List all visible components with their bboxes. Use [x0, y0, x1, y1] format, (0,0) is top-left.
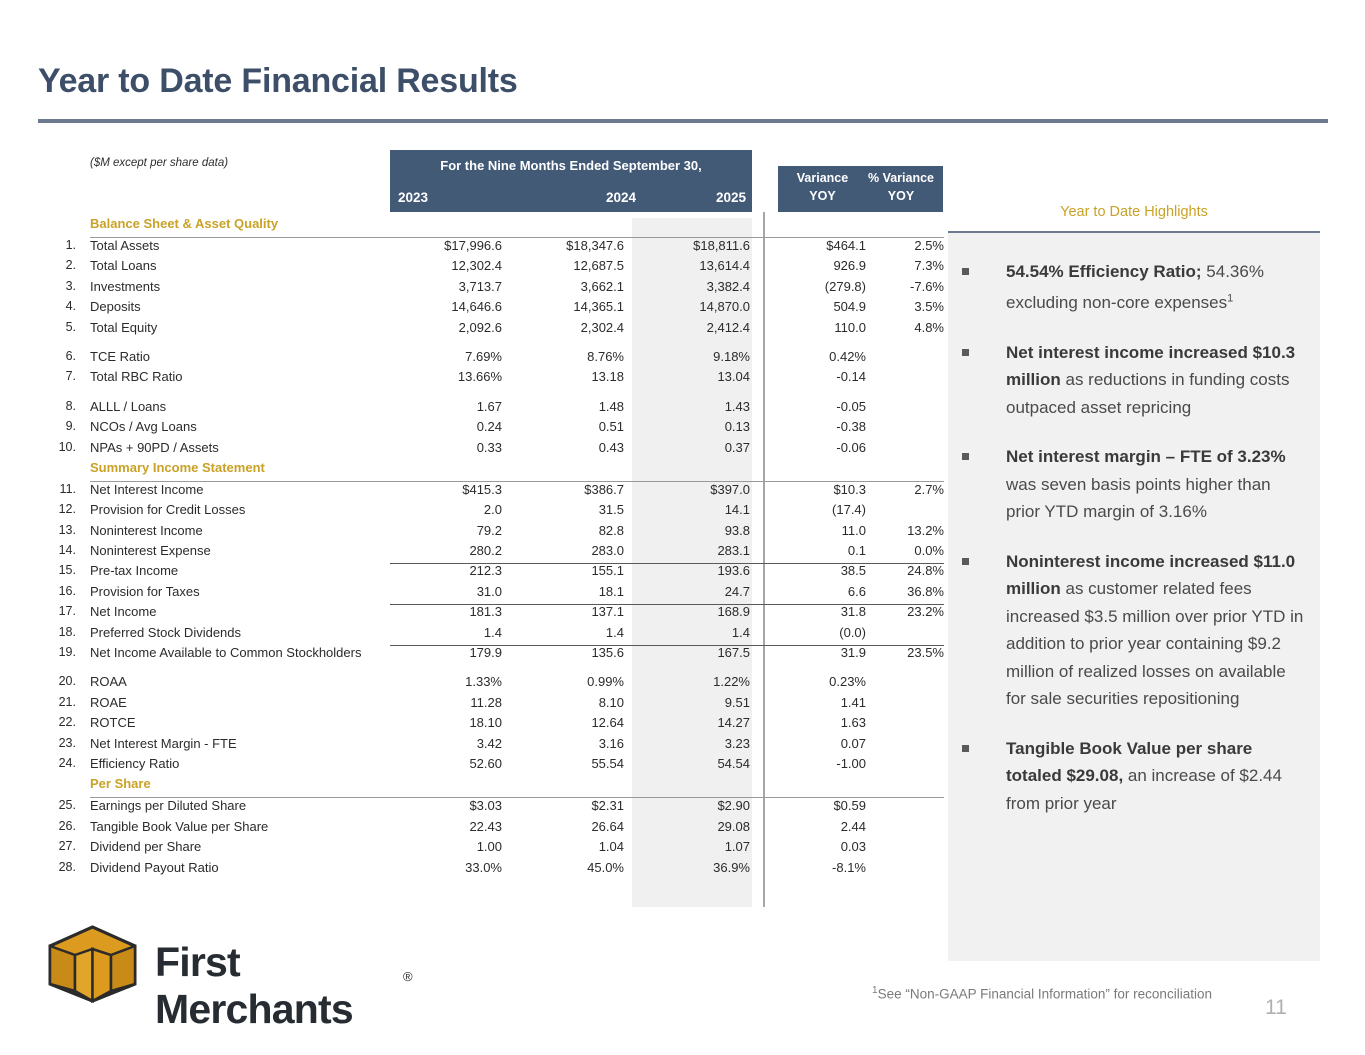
row-number: 5. [38, 320, 76, 334]
table-row: 4.Deposits14,646.614,365.114,870.0504.93… [38, 299, 948, 319]
highlights-list: 54.54% Efficiency Ratio; 54.36% excludin… [948, 258, 1320, 839]
cell-2024: 135.6 [512, 645, 624, 660]
cell-variance-yoy: 11.0 [774, 523, 866, 538]
highlight-bullet-item: Net interest income increased $10.3 mill… [948, 339, 1320, 422]
row-number: 2. [38, 258, 76, 272]
row-number: 8. [38, 399, 76, 413]
cell-2024: 13.18 [512, 369, 624, 384]
cell-2023: $415.3 [390, 482, 502, 497]
cell-variance-yoy: (279.8) [774, 279, 866, 294]
row-number: 18. [38, 625, 76, 639]
cell-2025: 1.07 [634, 839, 750, 854]
cell-2024: 283.0 [512, 543, 624, 558]
highlight-bullet-item: Tangible Book Value per share totaled $2… [948, 735, 1320, 818]
row-label: Net Interest Margin - FTE [90, 736, 237, 751]
cell-variance-yoy: -8.1% [774, 860, 866, 875]
cell-variance-yoy: -0.06 [774, 440, 866, 455]
cell-2023: 18.10 [390, 715, 502, 730]
cell-2023: 0.33 [390, 440, 502, 455]
cell-2025: $397.0 [634, 482, 750, 497]
row-spacer [38, 390, 948, 399]
cell-2025: 14.27 [634, 715, 750, 730]
table-row: 21.ROAE11.288.109.511.41 [38, 695, 948, 715]
financial-table: ($M except per share data) For the Nine … [38, 146, 948, 916]
footnote-text: See “Non-GAAP Financial Information” for… [878, 987, 1212, 1002]
cell-variance-yoy: 926.9 [774, 258, 866, 273]
cell-2024: 8.76% [512, 349, 624, 364]
cell-pct-variance-yoy: 4.8% [870, 320, 944, 335]
row-label: Provision for Taxes [90, 584, 200, 599]
cell-pct-variance-yoy: 2.7% [870, 482, 944, 497]
highlight-text: Tangible Book Value per share totaled $2… [1006, 739, 1282, 813]
table-row: 5.Total Equity2,092.62,302.42,412.4110.0… [38, 320, 948, 340]
table-row: 3.Investments3,713.73,662.13,382.4(279.8… [38, 279, 948, 299]
row-number: 22. [38, 715, 76, 729]
row-label: Pre-tax Income [90, 563, 178, 578]
highlight-text: Net interest margin – FTE of 3.23% was s… [1006, 447, 1286, 521]
table-row: 25.Earnings per Diluted Share$3.03$2.31$… [38, 798, 948, 818]
table-row: 16.Provision for Taxes31.018.124.76.636.… [38, 584, 948, 604]
row-number: 23. [38, 736, 76, 750]
cell-2024: 1.4 [512, 625, 624, 640]
table-row: 10.NPAs + 90PD / Assets0.330.430.37-0.06 [38, 440, 948, 460]
cell-variance-yoy: 1.41 [774, 695, 866, 710]
cell-2025: 13,614.4 [634, 258, 750, 273]
cell-variance-yoy: 504.9 [774, 299, 866, 314]
highlight-text: Net interest income increased $10.3 mill… [1006, 343, 1295, 417]
section-header-label: Per Share [90, 776, 151, 791]
row-label: Noninterest Income [90, 523, 203, 538]
cell-2025: 36.9% [634, 860, 750, 875]
row-label: Noninterest Expense [90, 543, 211, 558]
cell-2023: 1.33% [390, 674, 502, 689]
row-number: 1. [38, 238, 76, 252]
company-logo: First Merchants ® [45, 925, 425, 1003]
cell-2023: 3,713.7 [390, 279, 502, 294]
table-row: 9.NCOs / Avg Loans0.240.510.13-0.38 [38, 419, 948, 439]
cell-2025: 24.7 [634, 584, 750, 599]
row-number: 17. [38, 604, 76, 618]
cell-2024: 82.8 [512, 523, 624, 538]
cell-2024: $2.31 [512, 798, 624, 813]
row-label: Total Assets [90, 238, 159, 253]
table-row: 12.Provision for Credit Losses2.031.514.… [38, 502, 948, 522]
cell-2023: 12,302.4 [390, 258, 502, 273]
cell-variance-yoy: -1.00 [774, 756, 866, 771]
cell-2023: 2,092.6 [390, 320, 502, 335]
cell-pct-variance-yoy: 3.5% [870, 299, 944, 314]
row-number: 15. [38, 563, 76, 577]
cell-2024: 18.1 [512, 584, 624, 599]
cell-2023: 1.67 [390, 399, 502, 414]
cell-2023: $17,996.6 [390, 238, 502, 253]
cell-2025: 1.43 [634, 399, 750, 414]
row-number: 24. [38, 756, 76, 770]
cell-2025: 167.5 [634, 645, 750, 660]
row-label: Efficiency Ratio [90, 756, 179, 771]
cell-variance-yoy: (0.0) [774, 625, 866, 640]
row-label: NPAs + 90PD / Assets [90, 440, 219, 455]
cell-pct-variance-yoy: 13.2% [870, 523, 944, 538]
highlight-bullet-item: Net interest margin – FTE of 3.23% was s… [948, 443, 1320, 526]
cell-2023: 13.66% [390, 369, 502, 384]
row-label: NCOs / Avg Loans [90, 419, 197, 434]
variance-header-line1: Variance [785, 171, 860, 185]
cell-2023: 1.00 [390, 839, 502, 854]
cell-pct-variance-yoy: 0.0% [870, 543, 944, 558]
cell-variance-yoy: 0.42% [774, 349, 866, 364]
row-label: Deposits [90, 299, 141, 314]
cell-2024: 1.48 [512, 399, 624, 414]
cell-2023: 31.0 [390, 584, 502, 599]
table-row: 19.Net Income Available to Common Stockh… [38, 645, 948, 665]
cell-2025: $2.90 [634, 798, 750, 813]
cell-2023: 212.3 [390, 563, 502, 578]
cell-2024: 2,302.4 [512, 320, 624, 335]
table-row: 8.ALLL / Loans1.671.481.43-0.05 [38, 399, 948, 419]
cell-2023: 14,646.6 [390, 299, 502, 314]
cell-2023: 79.2 [390, 523, 502, 538]
column-header-2023: 2023 [398, 190, 504, 205]
row-number: 6. [38, 349, 76, 363]
cell-2025: 14,870.0 [634, 299, 750, 314]
cell-2025: 1.22% [634, 674, 750, 689]
bullet-square-icon [962, 745, 969, 752]
logo-wordmark: First Merchants [155, 939, 425, 1033]
cell-2025: 9.18% [634, 349, 750, 364]
cell-2023: 7.69% [390, 349, 502, 364]
page-number: 11 [1265, 996, 1287, 1020]
cell-2024: 45.0% [512, 860, 624, 875]
cell-variance-yoy: (17.4) [774, 502, 866, 517]
table-body: Balance Sheet & Asset Quality1.Total Ass… [38, 216, 948, 880]
cell-2024: 8.10 [512, 695, 624, 710]
bullet-square-icon [962, 349, 969, 356]
cell-2024: 0.43 [512, 440, 624, 455]
cell-variance-yoy: 110.0 [774, 320, 866, 335]
cell-2024: $18,347.6 [512, 238, 624, 253]
table-row: 15.Pre-tax Income212.3155.1193.638.524.8… [38, 563, 948, 583]
row-number: 14. [38, 543, 76, 557]
table-row: 14.Noninterest Expense280.2283.0283.10.1… [38, 543, 948, 563]
cell-2025: 168.9 [634, 604, 750, 619]
cell-2024: $386.7 [512, 482, 624, 497]
cell-variance-yoy: -0.05 [774, 399, 866, 414]
cell-2024: 155.1 [512, 563, 624, 578]
bullet-square-icon [962, 558, 969, 565]
cell-2023: 181.3 [390, 604, 502, 619]
row-number: 13. [38, 523, 76, 537]
cell-2024: 12,687.5 [512, 258, 624, 273]
cell-2023: 11.28 [390, 695, 502, 710]
row-label: Net Income Available to Common Stockhold… [90, 645, 361, 660]
table-row: 23.Net Interest Margin - FTE3.423.163.23… [38, 736, 948, 756]
variance-header-block: Variance YOY % Variance YOY [778, 166, 943, 212]
row-label: Earnings per Diluted Share [90, 798, 246, 813]
cell-variance-yoy: -0.38 [774, 419, 866, 434]
highlight-text: 54.54% Efficiency Ratio; 54.36% excludin… [1006, 262, 1264, 312]
row-number: 28. [38, 860, 76, 874]
table-row: 27.Dividend per Share1.001.041.070.03 [38, 839, 948, 859]
highlights-title: Year to Date Highlights [948, 204, 1320, 220]
highlight-bullet-item: Noninterest income increased $11.0 milli… [948, 548, 1320, 713]
registered-trademark-icon: ® [403, 969, 413, 984]
table-row: 20.ROAA1.33%0.99%1.22%0.23% [38, 674, 948, 694]
cell-2024: 31.5 [512, 502, 624, 517]
row-label: ROTCE [90, 715, 136, 730]
bullet-square-icon [962, 268, 969, 275]
cell-variance-yoy: $0.59 [774, 798, 866, 813]
cell-pct-variance-yoy: 36.8% [870, 584, 944, 599]
column-header-2025: 2025 [636, 190, 746, 205]
row-number: 9. [38, 419, 76, 433]
highlight-text: Noninterest income increased $11.0 milli… [1006, 552, 1303, 709]
pct-variance-header-line1: % Variance [864, 171, 938, 185]
cell-2024: 0.51 [512, 419, 624, 434]
table-row: 24.Efficiency Ratio52.6055.5454.54-1.00 [38, 756, 948, 776]
units-note: ($M except per share data) [90, 157, 228, 169]
cell-2023: 1.4 [390, 625, 502, 640]
row-label: Total RBC Ratio [90, 369, 182, 384]
row-label: Total Equity [90, 320, 157, 335]
table-row: 28.Dividend Payout Ratio33.0%45.0%36.9%-… [38, 860, 948, 880]
cell-2023: 3.42 [390, 736, 502, 751]
cell-pct-variance-yoy: -7.6% [870, 279, 944, 294]
cell-2024: 55.54 [512, 756, 624, 771]
footnote: 1See “Non-GAAP Financial Information” fo… [872, 985, 1212, 1002]
cell-variance-yoy: 0.1 [774, 543, 866, 558]
table-row: 11.Net Interest Income$415.3$386.7$397.0… [38, 482, 948, 502]
cell-2023: 0.24 [390, 419, 502, 434]
variance-header-line2: YOY [785, 189, 860, 203]
cell-pct-variance-yoy: 23.5% [870, 645, 944, 660]
cell-variance-yoy: 1.63 [774, 715, 866, 730]
row-label: Net Interest Income [90, 482, 203, 497]
page-title: Year to Date Financial Results [38, 62, 518, 101]
cell-variance-yoy: -0.14 [774, 369, 866, 384]
cell-2025: 3.23 [634, 736, 750, 751]
table-row: 2.Total Loans12,302.412,687.513,614.4926… [38, 258, 948, 278]
cell-2025: $18,811.6 [634, 238, 750, 253]
cell-variance-yoy: 0.23% [774, 674, 866, 689]
cell-2025: 0.13 [634, 419, 750, 434]
row-spacer [38, 665, 948, 674]
cell-2024: 12.64 [512, 715, 624, 730]
row-label: ROAA [90, 674, 127, 689]
cell-2025: 14.1 [634, 502, 750, 517]
table-row: 13.Noninterest Income79.282.893.811.013.… [38, 523, 948, 543]
cell-variance-yoy: $10.3 [774, 482, 866, 497]
cell-variance-yoy: 0.07 [774, 736, 866, 751]
cell-2023: 52.60 [390, 756, 502, 771]
cell-2025: 283.1 [634, 543, 750, 558]
row-number: 11. [38, 482, 76, 496]
cell-2024: 1.04 [512, 839, 624, 854]
row-number: 20. [38, 674, 76, 688]
table-section-header: Balance Sheet & Asset Quality [38, 216, 948, 238]
cell-2025: 3,382.4 [634, 279, 750, 294]
cell-variance-yoy: 38.5 [774, 563, 866, 578]
row-label: Investments [90, 279, 160, 294]
cell-2024: 3,662.1 [512, 279, 624, 294]
table-row: 18.Preferred Stock Dividends1.41.41.4(0.… [38, 625, 948, 645]
cell-2023: $3.03 [390, 798, 502, 813]
row-label: TCE Ratio [90, 349, 150, 364]
table-section-header: Per Share [38, 776, 948, 798]
period-header-block: For the Nine Months Ended September 30, … [390, 150, 752, 212]
cell-variance-yoy: 0.03 [774, 839, 866, 854]
cell-2025: 29.08 [634, 819, 750, 834]
cell-2024: 137.1 [512, 604, 624, 619]
cell-variance-yoy: 6.6 [774, 584, 866, 599]
cell-2025: 0.37 [634, 440, 750, 455]
cell-2024: 14,365.1 [512, 299, 624, 314]
row-number: 7. [38, 369, 76, 383]
cell-2025: 2,412.4 [634, 320, 750, 335]
first-merchants-hexagon-icon [45, 925, 140, 1003]
cell-2025: 9.51 [634, 695, 750, 710]
cell-2023: 179.9 [390, 645, 502, 660]
column-header-2024: 2024 [520, 190, 636, 205]
row-label: Tangible Book Value per Share [90, 819, 268, 834]
row-label: Preferred Stock Dividends [90, 625, 241, 640]
cell-2025: 93.8 [634, 523, 750, 538]
cell-2025: 1.4 [634, 625, 750, 640]
row-label: Total Loans [90, 258, 157, 273]
cell-2023: 33.0% [390, 860, 502, 875]
table-row: 17.Net Income181.3137.1168.931.823.2% [38, 604, 948, 624]
cell-2024: 26.64 [512, 819, 624, 834]
table-section-header: Summary Income Statement [38, 460, 948, 482]
cell-variance-yoy: 31.9 [774, 645, 866, 660]
row-number: 4. [38, 299, 76, 313]
row-number: 3. [38, 279, 76, 293]
cell-2024: 0.99% [512, 674, 624, 689]
pct-variance-header-line2: YOY [864, 189, 938, 203]
row-label: Provision for Credit Losses [90, 502, 245, 517]
cell-2025: 193.6 [634, 563, 750, 578]
cell-pct-variance-yoy: 23.2% [870, 604, 944, 619]
row-label: ROAE [90, 695, 127, 710]
row-label: Net Income [90, 604, 156, 619]
cell-2025: 13.04 [634, 369, 750, 384]
cell-2023: 280.2 [390, 543, 502, 558]
row-label: Dividend Payout Ratio [90, 860, 219, 875]
title-divider [38, 119, 1328, 123]
cell-variance-yoy: 31.8 [774, 604, 866, 619]
cell-pct-variance-yoy: 2.5% [870, 238, 944, 253]
table-row: 1.Total Assets$17,996.6$18,347.6$18,811.… [38, 238, 948, 258]
cell-variance-yoy: $464.1 [774, 238, 866, 253]
cell-2023: 2.0 [390, 502, 502, 517]
cell-2025: 54.54 [634, 756, 750, 771]
row-number: 12. [38, 502, 76, 516]
cell-pct-variance-yoy: 24.8% [870, 563, 944, 578]
cell-2024: 3.16 [512, 736, 624, 751]
row-number: 10. [38, 440, 76, 454]
cell-2023: 22.43 [390, 819, 502, 834]
section-header-label: Balance Sheet & Asset Quality [90, 216, 278, 231]
table-row: 6.TCE Ratio7.69%8.76%9.18%0.42% [38, 349, 948, 369]
row-spacer [38, 340, 948, 349]
table-row: 7.Total RBC Ratio13.66%13.1813.04-0.14 [38, 369, 948, 389]
period-header-label: For the Nine Months Ended September 30, [390, 158, 752, 173]
row-label: ALLL / Loans [90, 399, 166, 414]
highlight-bullet-item: 54.54% Efficiency Ratio; 54.36% excludin… [948, 258, 1320, 317]
row-number: 19. [38, 645, 76, 659]
bullet-square-icon [962, 453, 969, 460]
table-row: 26.Tangible Book Value per Share22.4326.… [38, 819, 948, 839]
table-row: 22.ROTCE18.1012.6414.271.63 [38, 715, 948, 735]
row-label: Dividend per Share [90, 839, 201, 854]
row-number: 25. [38, 798, 76, 812]
cell-pct-variance-yoy: 7.3% [870, 258, 944, 273]
section-header-label: Summary Income Statement [90, 460, 265, 475]
cell-variance-yoy: 2.44 [774, 819, 866, 834]
row-number: 21. [38, 695, 76, 709]
row-number: 16. [38, 584, 76, 598]
row-number: 26. [38, 819, 76, 833]
row-number: 27. [38, 839, 76, 853]
